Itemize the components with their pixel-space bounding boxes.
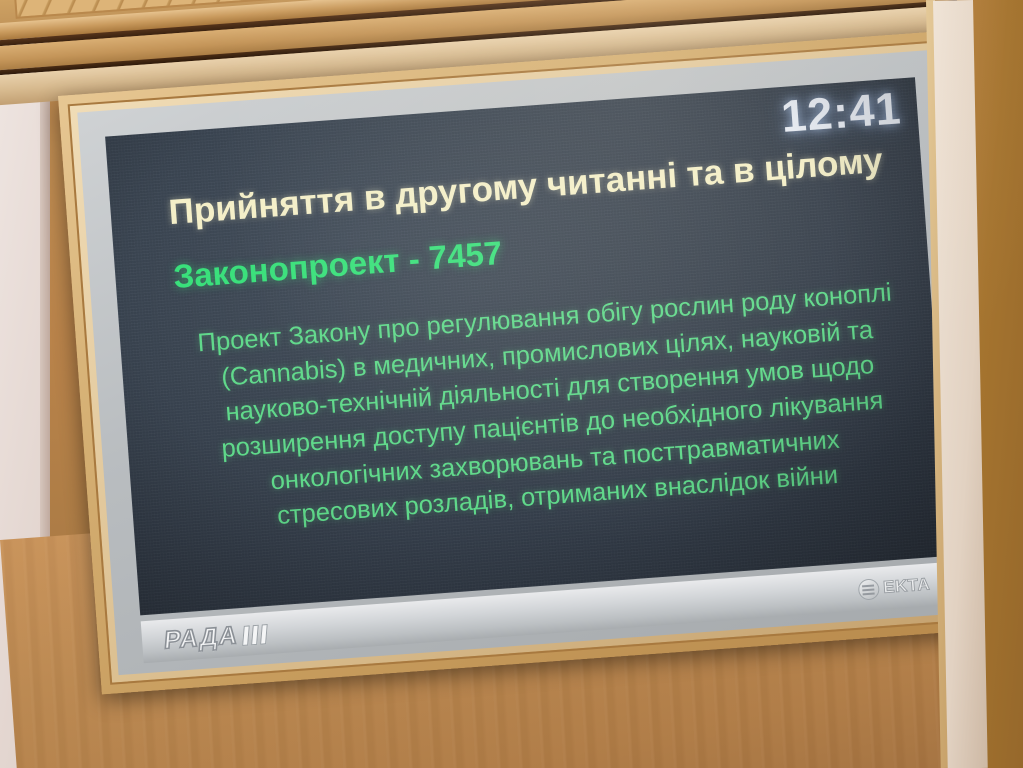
ekta-mark-icon (858, 578, 880, 600)
ekta-logo-label: EKTA (882, 574, 930, 597)
ekta-logo: EKTA (858, 574, 931, 600)
slide-body-text: Проект Закону про регулювання обігу росл… (139, 271, 950, 544)
photo-scene: 12:41 Прийняття в другому читанні та в ц… (0, 0, 1023, 768)
screen-surface: 12:41 Прийняття в другому читанні та в ц… (105, 77, 950, 615)
slide-subtitle-bill-number: Законопроект - 7457 (172, 234, 503, 296)
session-clock: 12:41 (779, 82, 903, 143)
slide-title: Прийняття в другому читанні та в цілому (167, 134, 950, 233)
rada-bars-icon (242, 623, 268, 645)
display-monitor: 12:41 Прийняття в другому читанні та в ц… (58, 30, 1000, 694)
monitor-inner-frame: 12:41 Прийняття в другому читанні та в ц… (77, 49, 980, 675)
rada-logo: РАДА (163, 619, 268, 656)
rada-logo-label: РАДА (163, 621, 239, 656)
